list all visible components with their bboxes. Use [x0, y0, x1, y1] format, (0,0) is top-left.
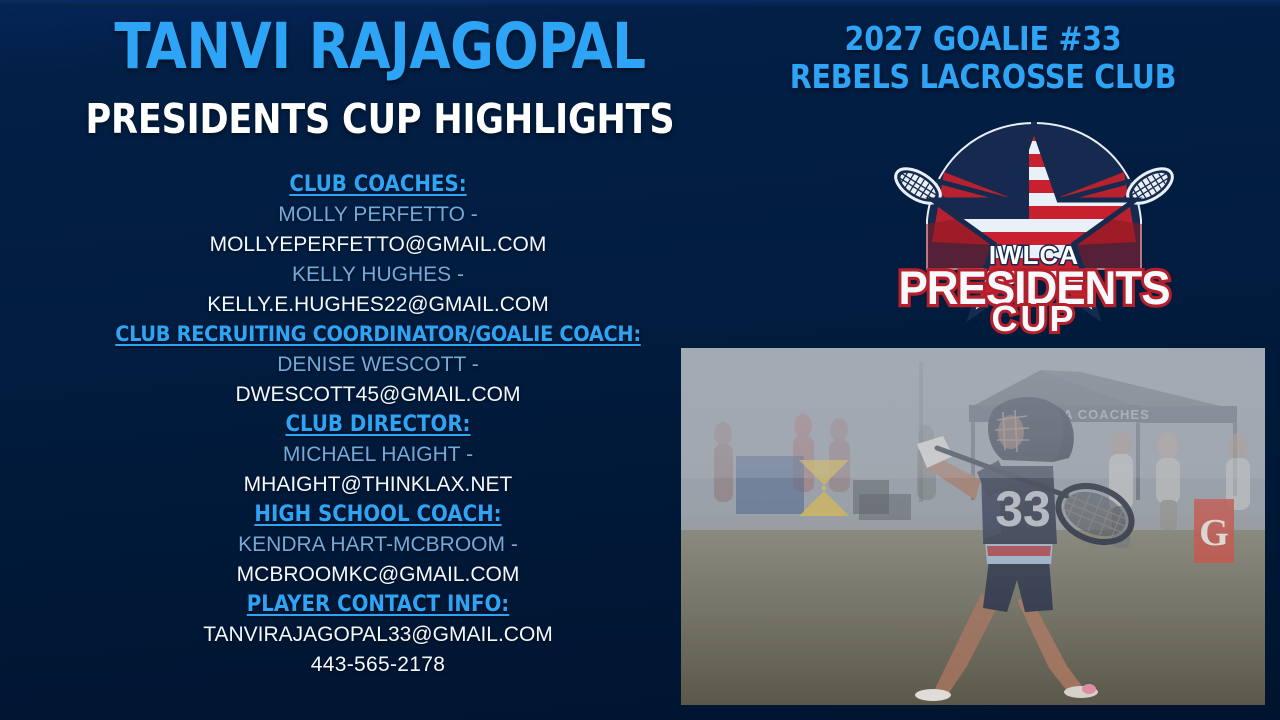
contact-section-header: CLUB COACHES:: [100, 170, 656, 200]
contact-email[interactable]: MOLLYEPERFETTO@GMAIL.COM: [100, 230, 656, 260]
video-subtitle: PRESIDENTS CUP HIGHLIGHTS: [57, 96, 703, 142]
action-photo: IWLCA COACHES: [681, 348, 1265, 705]
contact-email[interactable]: DWESCOTT45@GMAIL.COM: [100, 380, 656, 410]
contact-section-header: CLUB RECRUITING COORDINATOR/GOALIE COACH…: [100, 320, 656, 350]
team-info-line-1: 2027 GOALIE #33: [711, 20, 1254, 58]
contact-section-header: HIGH SCHOOL COACH:: [100, 500, 656, 530]
contact-section-header: CLUB DIRECTOR:: [100, 410, 656, 440]
contact-info-block: CLUB COACHES: MOLLY PERFETTO - MOLLYEPER…: [100, 170, 656, 680]
svg-text:★: ★: [942, 137, 952, 149]
contact-person-name: MICHAEL HAIGHT -: [100, 440, 656, 470]
contact-person-name: MOLLY PERFETTO -: [100, 200, 656, 230]
contact-email[interactable]: MCBROOMKC@GMAIL.COM: [100, 560, 656, 590]
player-email[interactable]: TANVIRAJAGOPAL33@GMAIL.COM: [100, 620, 656, 650]
top-edge-band: [0, 0, 1280, 7]
iwlca-presidents-cup-logo: ★★★★ ★★★★ ★★★★ ★★★★ ★★★★ IWLCA PRESIDENT…: [884, 112, 1184, 337]
team-info-line-2: REBELS LACROSSE CLUB: [711, 58, 1254, 96]
contact-person-name: DENISE WESCOTT -: [100, 350, 656, 380]
page-title: TANVI RAJAGOPAL: [60, 12, 699, 82]
contact-person-name: KELLY HUGHES -: [100, 260, 656, 290]
logo-title-line-2: CUP: [991, 298, 1076, 337]
contact-person-name: KENDRA HART-MCBROOM -: [100, 530, 656, 560]
highlight-video-slate: TANVI RAJAGOPAL PRESIDENTS CUP HIGHLIGHT…: [0, 0, 1280, 720]
contact-section-header: PLAYER CONTACT INFO:: [100, 590, 656, 620]
player-phone[interactable]: 443-565-2178: [100, 650, 656, 680]
team-info: 2027 GOALIE #33 REBELS LACROSSE CLUB: [711, 20, 1254, 96]
contact-email[interactable]: MHAIGHT@THINKLAX.NET: [100, 470, 656, 500]
contact-email[interactable]: KELLY.E.HUGHES22@GMAIL.COM: [100, 290, 656, 320]
